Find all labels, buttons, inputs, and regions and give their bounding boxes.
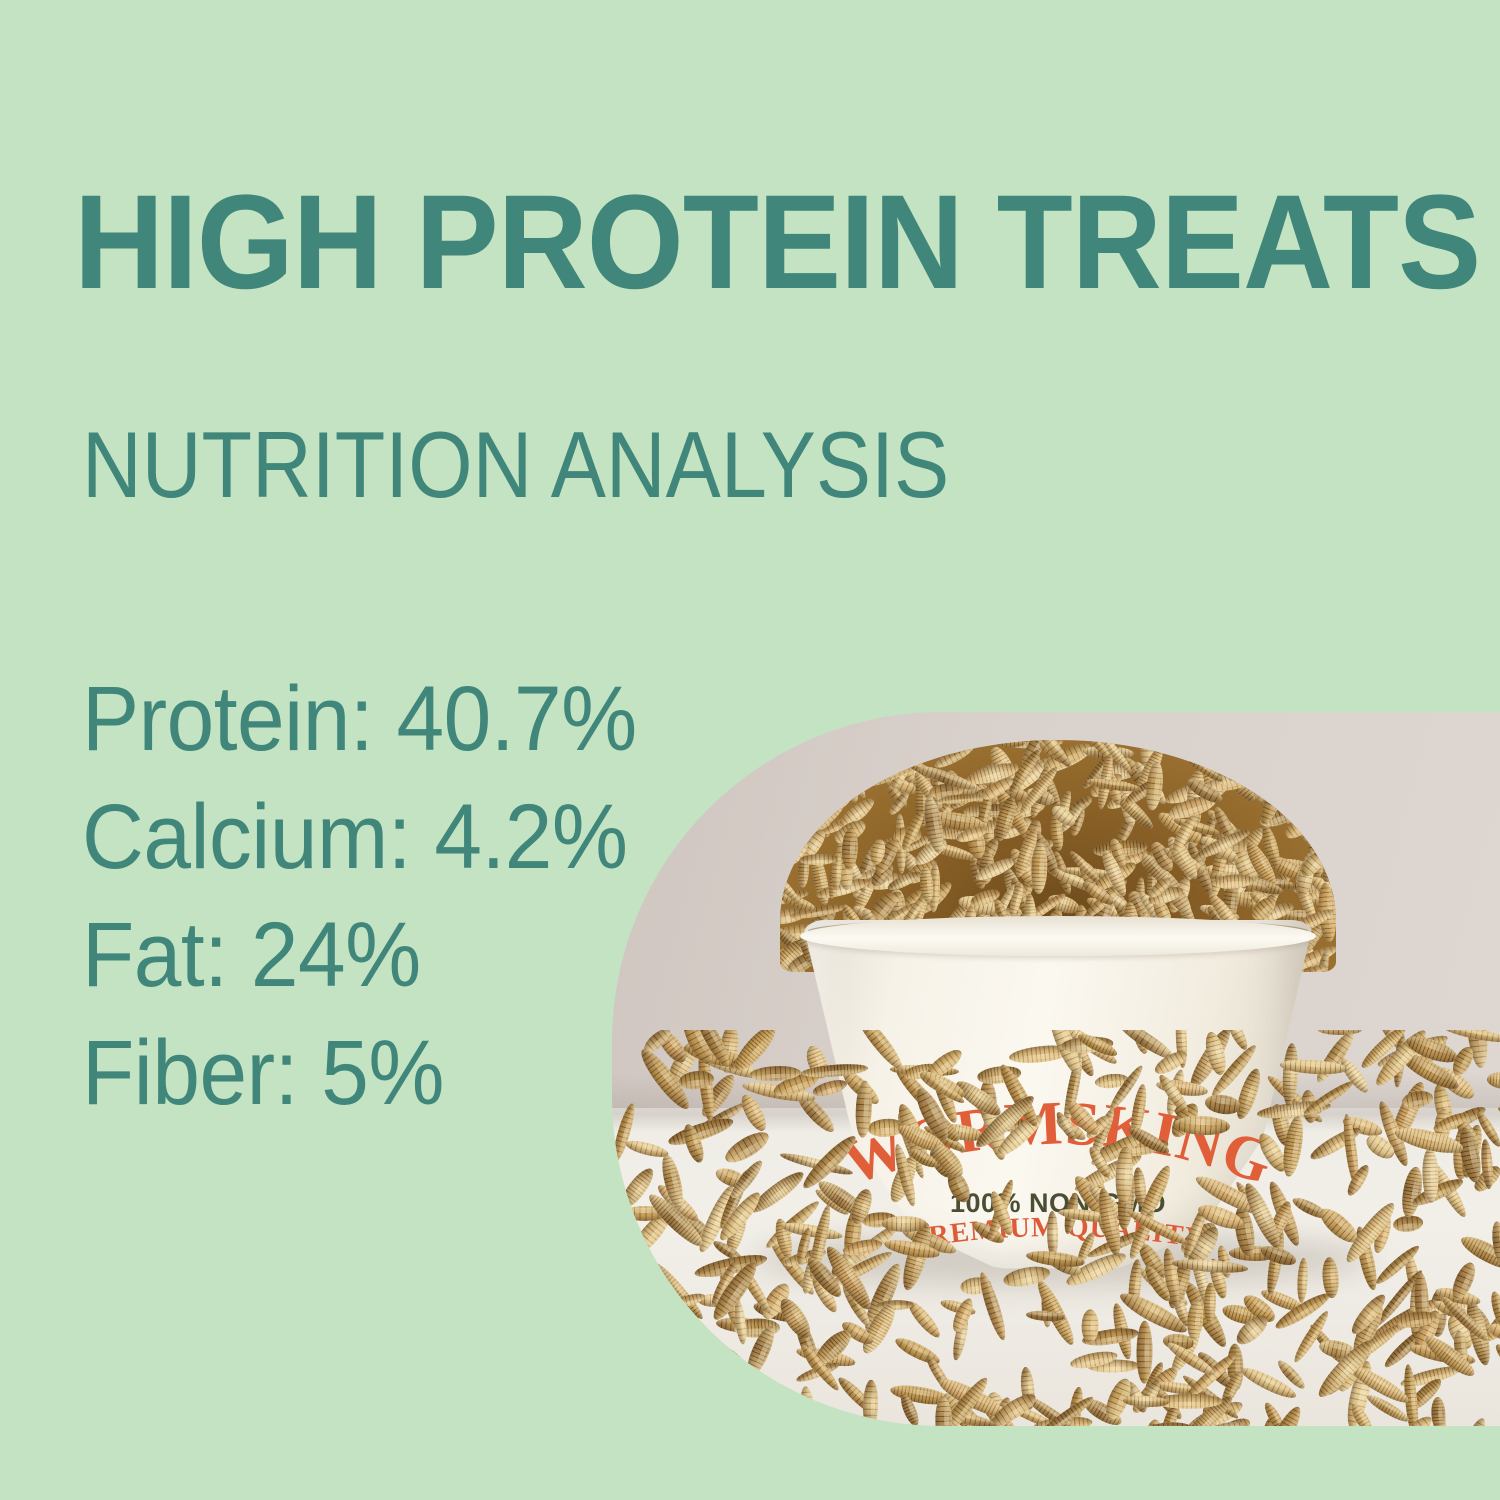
larvae-scatter <box>612 1030 1500 1426</box>
product-photo: WORMSKING 100% NON-GMO PREMIUM QUALITY <box>612 712 1500 1426</box>
larva <box>1318 1030 1363 1035</box>
page-title: HIGH PROTEIN TREATS <box>74 176 1480 310</box>
list-item: Calcium: 4.2% <box>82 778 659 896</box>
larva <box>910 740 942 754</box>
larva <box>738 1091 771 1133</box>
bowl-rim <box>800 916 1316 956</box>
larva <box>1081 1309 1098 1343</box>
larva <box>721 1127 772 1168</box>
list-item: Protein: 40.7% <box>82 660 659 778</box>
larva <box>612 1102 638 1164</box>
larva <box>862 1379 878 1426</box>
list-item: Fiber: 5% <box>82 1014 659 1132</box>
larvae-scatter-layer <box>612 1030 1500 1426</box>
larva <box>1490 1339 1500 1397</box>
larva <box>841 827 859 870</box>
larva <box>1136 1320 1153 1383</box>
larva <box>1459 1415 1489 1426</box>
poster-canvas: HIGH PROTEIN TREATS NUTRITION ANALYSIS P… <box>0 0 1500 1500</box>
larva <box>1030 842 1048 895</box>
list-item: Fat: 24% <box>82 896 659 1014</box>
larva <box>1401 1089 1434 1110</box>
larva <box>882 1216 927 1232</box>
larva <box>1296 1257 1309 1302</box>
larva <box>1392 1214 1424 1233</box>
page-subtitle: NUTRITION ANALYSIS <box>82 418 949 512</box>
larva <box>707 1409 746 1424</box>
larva <box>1486 1071 1500 1091</box>
larva <box>799 1386 817 1426</box>
larva <box>1430 1396 1446 1426</box>
nutrition-list: Protein: 40.7% Calcium: 4.2% Fat: 24% Fi… <box>82 660 702 1132</box>
